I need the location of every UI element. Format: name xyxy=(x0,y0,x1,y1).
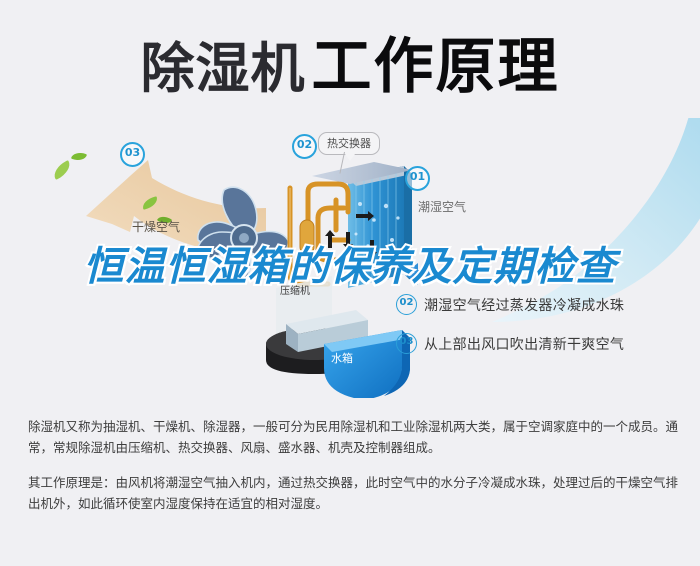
paragraph-2: 其工作原理是：由风机将潮湿空气抽入机内，通过热交换器，此时空气中的水分子冷凝成水… xyxy=(28,472,678,514)
marker-02: 02 xyxy=(292,134,317,159)
legend-list: 02 潮湿空气经过蒸发器冷凝成水珠 03 从上部出风口吹出清新干爽空气 xyxy=(396,294,696,372)
page-title-part1: 除湿机 xyxy=(141,37,306,100)
legend-number: 02 xyxy=(396,294,417,315)
humid-air-label: 潮湿空气 xyxy=(418,198,466,215)
legend-number: 03 xyxy=(396,333,417,354)
water-tank-label: 水箱 xyxy=(331,350,353,366)
article-body: 除湿机又称为抽湿机、干燥机、除湿器，一般可分为民用除湿机和工业除湿机两大类，属于… xyxy=(28,416,678,528)
dry-air-label: 干燥空气 xyxy=(132,218,180,235)
marker-01: 01 xyxy=(405,166,430,191)
legend-item: 02 潮湿空气经过蒸发器冷凝成水珠 xyxy=(396,294,696,315)
compressor-label: 压缩机 xyxy=(280,282,310,297)
page-title-part2: 工作原理 xyxy=(312,32,560,102)
legend-item: 03 从上部出风口吹出清新干爽空气 xyxy=(396,333,696,354)
legend-label: 潮湿空气经过蒸发器冷凝成水珠 xyxy=(424,295,624,315)
marker-03: 03 xyxy=(120,142,145,167)
heat-exchanger-callout: 热交换器 xyxy=(318,132,380,155)
page-title: 除湿机工作原理 xyxy=(0,18,700,105)
infographic-page: 除湿机工作原理 xyxy=(0,0,700,566)
legend-label: 从上部出风口吹出清新干爽空气 xyxy=(424,334,624,354)
leaf-icon xyxy=(50,160,73,180)
paragraph-1: 除湿机又称为抽湿机、干燥机、除湿器，一般可分为民用除湿机和工业除湿机两大类，属于… xyxy=(28,416,678,458)
